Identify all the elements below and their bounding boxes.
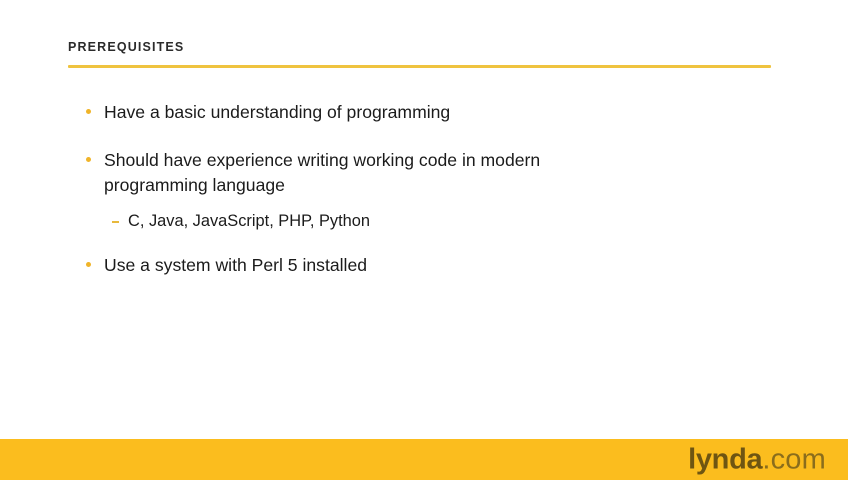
- list-item-label: Should have experience writing working c…: [104, 148, 745, 198]
- bullet-dash-icon: [112, 221, 119, 223]
- bullet-list: Have a basic understanding of programmin…: [85, 100, 745, 278]
- list-item: Should have experience writing working c…: [85, 148, 745, 198]
- footer-brand-bar: lynda.com: [0, 439, 848, 480]
- spacer: [85, 233, 745, 253]
- brand-name-label: lynda: [688, 443, 762, 475]
- spacer: [85, 125, 745, 148]
- spacer: [85, 198, 745, 209]
- page-title: PREREQUISITES: [68, 39, 184, 55]
- presentation-slide: PREREQUISITES Have a basic understanding…: [0, 0, 848, 480]
- list-item-label: Use a system with Perl 5 installed: [104, 253, 745, 278]
- sub-list-item-label: C, Java, JavaScript, PHP, Python: [128, 209, 745, 233]
- brand-tld-label: .com: [762, 443, 826, 475]
- title-underline-rule: [68, 65, 771, 68]
- list-item-label: Have a basic understanding of programmin…: [104, 100, 745, 125]
- bullet-dot-icon: [86, 262, 91, 267]
- list-item: Use a system with Perl 5 installed: [85, 253, 745, 278]
- bullet-dot-icon: [86, 157, 91, 162]
- list-item: Have a basic understanding of programmin…: [85, 100, 745, 125]
- bullet-dot-icon: [86, 109, 91, 114]
- sub-list-item: C, Java, JavaScript, PHP, Python: [110, 209, 745, 233]
- brand-logo: lynda.com: [688, 444, 826, 474]
